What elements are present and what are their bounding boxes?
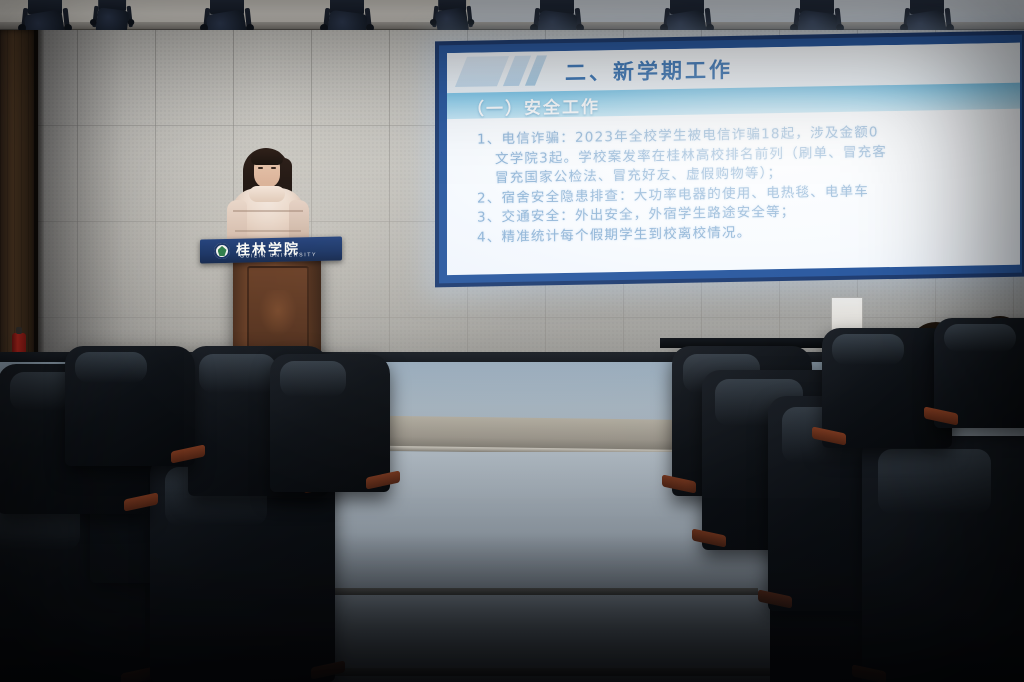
slide-body-text: 1、电信诈骗：2023年全校学生被电信诈骗18起，涉及金额0文学院3起。学校案发… bbox=[477, 121, 1012, 248]
auditorium-seat bbox=[934, 318, 1024, 428]
seat-highlight bbox=[944, 324, 1016, 353]
seat-highlight bbox=[878, 449, 991, 514]
presenter-fringe bbox=[251, 150, 283, 165]
stage-light-knob bbox=[128, 19, 135, 26]
stage-light-knob bbox=[468, 19, 475, 26]
seat-highlight bbox=[280, 361, 346, 397]
wood-grain-texture bbox=[0, 30, 38, 360]
presenter-jacket-seam bbox=[233, 210, 303, 212]
projection-screen: 二、新学期工作 （一）安全工作 1、电信诈骗：2023年全校学生被电信诈骗18起… bbox=[435, 31, 1024, 288]
seat-highlight bbox=[199, 354, 276, 393]
wall-shadow-edge bbox=[34, 30, 44, 360]
university-name-en: GUILIN UNIVERSITY bbox=[240, 252, 317, 260]
wood-wall-panel bbox=[0, 30, 38, 360]
slide-surface: 二、新学期工作 （一）安全工作 1、电信诈骗：2023年全校学生被电信诈骗18起… bbox=[447, 43, 1020, 276]
presenter-eye bbox=[271, 167, 276, 169]
stage-light-knob bbox=[90, 19, 97, 26]
lecture-hall-photo: 二、新学期工作 （一）安全工作 1、电信诈骗：2023年全校学生被电信诈骗18起… bbox=[0, 0, 1024, 682]
lectern-nameplate: 桂林学院 GUILIN UNIVERSITY bbox=[200, 237, 342, 264]
auditorium-seat bbox=[270, 354, 390, 492]
seat-block-right bbox=[672, 318, 1024, 682]
presenter-jacket-seam bbox=[235, 230, 301, 232]
slide-subsection-title: （一）安全工作 bbox=[467, 92, 600, 119]
screen-inner-frame: 二、新学期工作 （一）安全工作 1、电信诈骗：2023年全校学生被电信诈骗18起… bbox=[439, 35, 1022, 284]
seat-highlight bbox=[832, 334, 904, 365]
slide-deco-shape bbox=[455, 56, 509, 87]
auditorium-seat bbox=[822, 328, 952, 448]
auditorium-seat bbox=[862, 436, 1024, 682]
presenter-collar bbox=[249, 186, 285, 202]
university-logo-icon bbox=[214, 243, 230, 259]
slide-section-title: 二、新学期工作 bbox=[565, 54, 733, 87]
seat-block-left bbox=[0, 338, 390, 682]
auditorium-seat bbox=[65, 346, 195, 466]
presenter bbox=[225, 148, 311, 252]
presenter-eye bbox=[258, 167, 263, 169]
stage-light-knob bbox=[430, 19, 437, 26]
seat-highlight bbox=[75, 352, 147, 383]
